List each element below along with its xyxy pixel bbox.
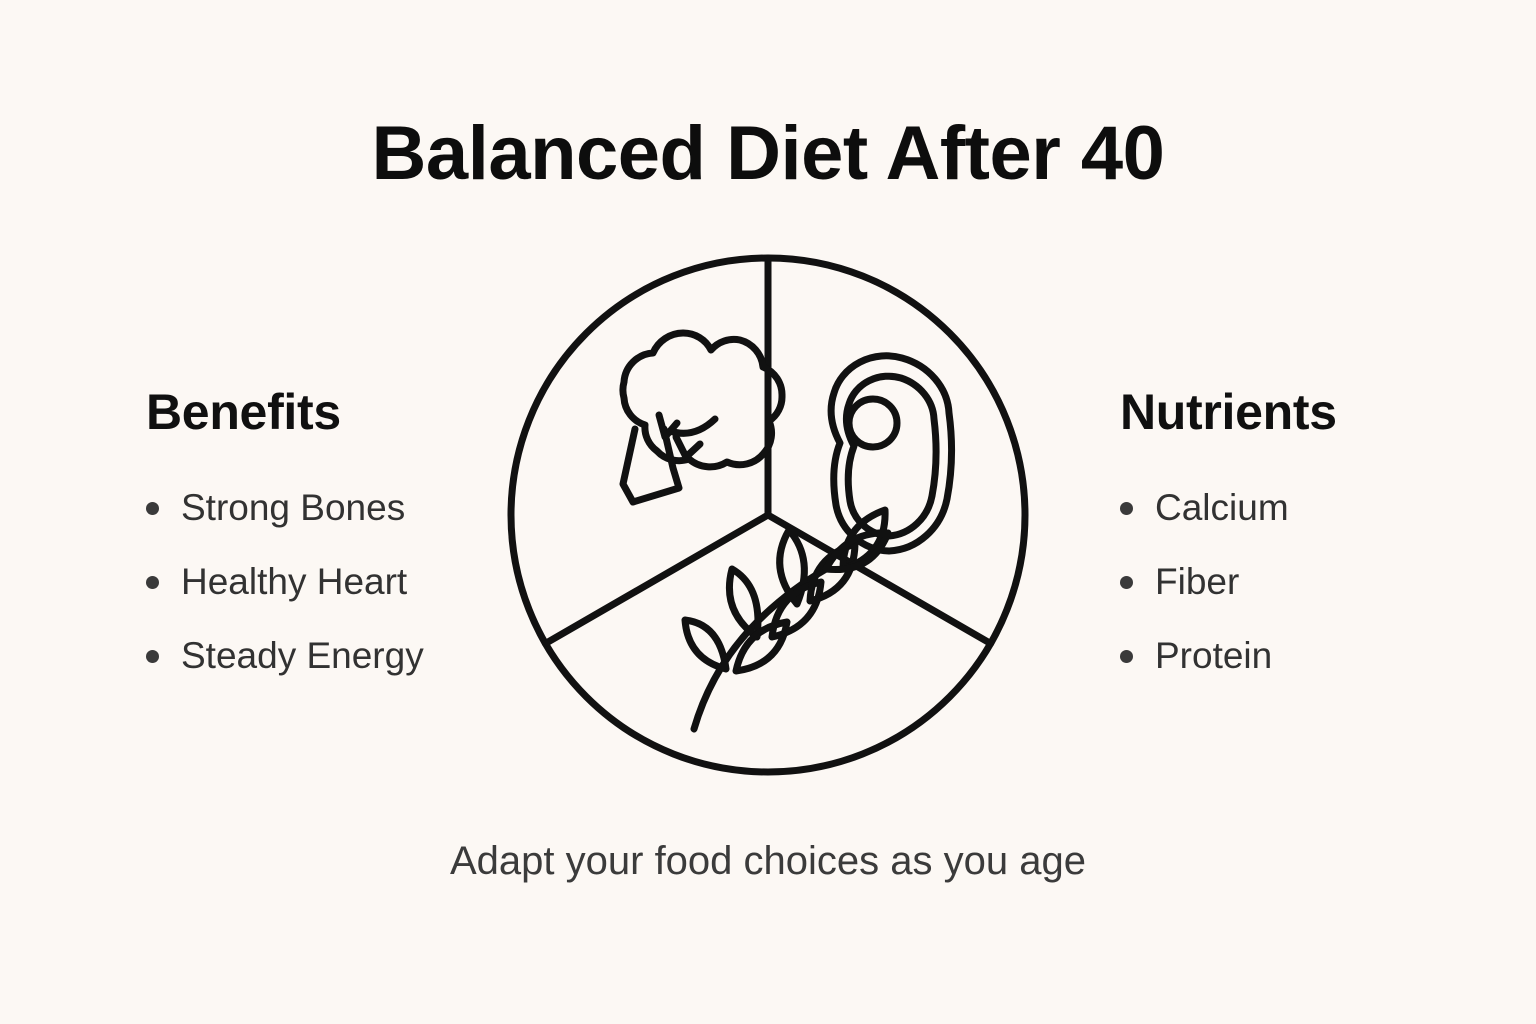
divider-line-lower-left — [545, 515, 768, 644]
list-item: Healthy Heart — [146, 560, 506, 604]
broccoli-icon — [623, 333, 782, 502]
infographic-poster: Balanced Diet After 40 Benefits Strong B… — [0, 0, 1536, 1024]
list-item: Protein — [1120, 634, 1500, 678]
bullet-dot-icon — [146, 576, 159, 589]
steak-bone-circle — [849, 399, 897, 447]
list-item: Steady Energy — [146, 634, 506, 678]
bullet-dot-icon — [146, 502, 159, 515]
nutrients-heading: Nutrients — [1120, 382, 1500, 442]
page-title: Balanced Diet After 40 — [0, 108, 1536, 200]
three-segment-plate-diagram — [504, 251, 1032, 779]
list-item-label: Calcium — [1155, 486, 1289, 530]
list-item-label: Steady Energy — [181, 634, 424, 678]
benefits-heading: Benefits — [146, 382, 506, 442]
list-item: Calcium — [1120, 486, 1500, 530]
list-item-label: Strong Bones — [181, 486, 405, 530]
benefits-column: Benefits Strong Bones Healthy Heart Stea… — [146, 382, 506, 678]
bullet-dot-icon — [1120, 576, 1133, 589]
bullet-dot-icon — [146, 650, 159, 663]
list-item-label: Protein — [1155, 634, 1272, 678]
caption-text: Adapt your food choices as you age — [0, 836, 1536, 886]
steak-icon — [831, 356, 951, 551]
bullet-dot-icon — [1120, 650, 1133, 663]
list-item-label: Fiber — [1155, 560, 1239, 604]
bullet-dot-icon — [1120, 502, 1133, 515]
list-item: Strong Bones — [146, 486, 506, 530]
nutrients-list: Calcium Fiber Protein — [1120, 486, 1500, 678]
nutrients-column: Nutrients Calcium Fiber Protein — [1120, 382, 1500, 678]
benefits-list: Strong Bones Healthy Heart Steady Energy — [146, 486, 506, 678]
list-item: Fiber — [1120, 560, 1500, 604]
list-item-label: Healthy Heart — [181, 560, 407, 604]
